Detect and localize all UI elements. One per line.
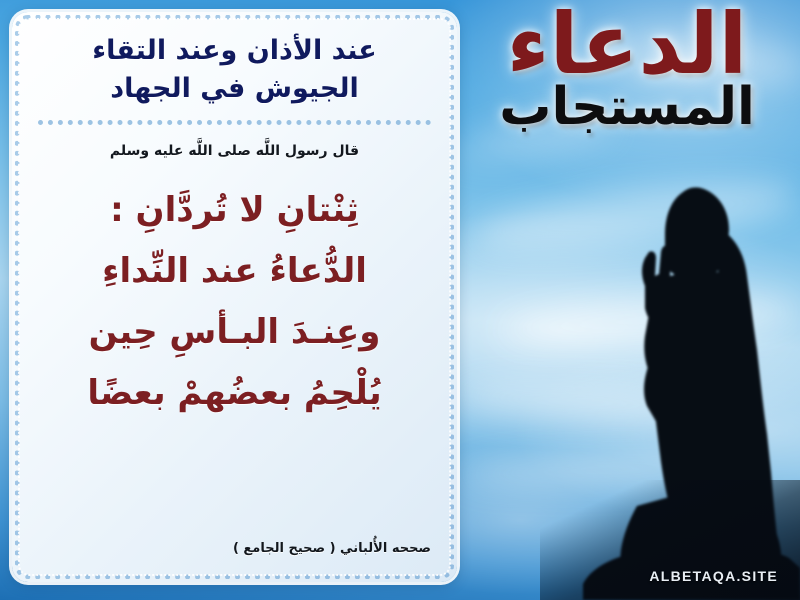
topic-header-line-2: الجيوش في الجهاد: [34, 70, 435, 108]
poster-title-sub: المستجاب: [472, 81, 782, 133]
hadith-line-1: ثِنْتانِ لا تُردَّانِ :: [12, 193, 457, 227]
content-panel: عند الأذان وعند التقاء الجيوش في الجهاد …: [12, 12, 457, 582]
cloud-streak: [468, 170, 800, 262]
poster-title: الدعاء المستجاب: [472, 4, 782, 133]
source-attribution: صححه الأُلباني ( صحيح الجامع ): [233, 541, 431, 556]
cloud-streak: [453, 106, 617, 171]
hadith-line-3: وعِنـدَ البـأسِ حِين: [12, 315, 457, 349]
site-watermark: ALBETAQA.SITE: [649, 568, 778, 584]
topic-header: عند الأذان وعند التقاء الجيوش في الجهاد: [28, 26, 441, 121]
header-divider: [38, 118, 431, 125]
praying-person-silhouette-icon: [575, 180, 800, 600]
cloud-streak: [598, 24, 800, 92]
cloud-streak: [499, 290, 800, 351]
cloud-streak: [460, 450, 751, 490]
poster-canvas: الدعاء المستجاب عند الأذان وعند التقاء ا…: [0, 0, 800, 600]
topic-header-line-1: عند الأذان وعند التقاء: [34, 32, 435, 70]
hadith-line-4: يُلْحِمُ بعضُهمْ بعضًا: [12, 376, 457, 410]
narrator-line: قال رسول اللَّه صلى اللَّه عليه وسلم: [12, 143, 457, 159]
cloud-streak: [454, 378, 705, 425]
poster-title-main: الدعاء: [472, 4, 782, 85]
hadith-line-2: الدُّعاءُ عند النِّداءِ: [12, 254, 457, 288]
hadith-body: ثِنْتانِ لا تُردَّانِ : الدُّعاءُ عند ال…: [12, 193, 457, 410]
